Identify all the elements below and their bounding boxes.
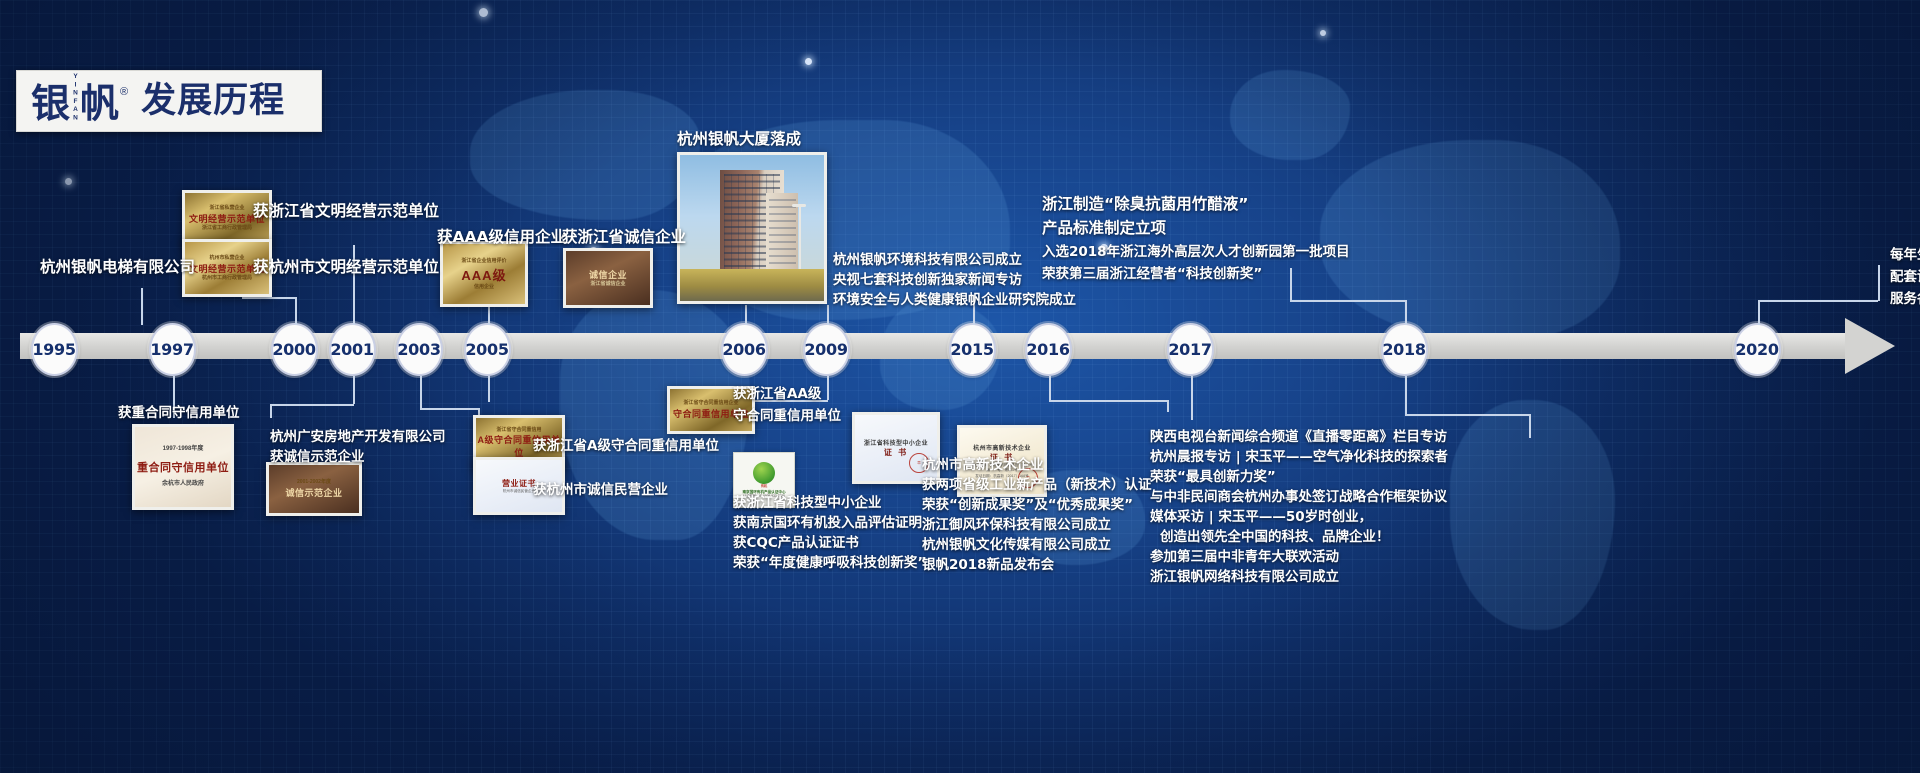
connector-2003-down-h <box>420 408 478 410</box>
eco-badge-logo-text: 有机 <box>761 484 767 488</box>
annotation-2020-line1: 每年生产天然竹萃浓缩液上万吨 <box>1890 246 1920 265</box>
connector-2001-down-drop <box>270 404 272 418</box>
annotation-2016-below-line1: 杭州市高新技术企业 <box>922 456 1044 475</box>
connector-2000-up <box>295 297 297 325</box>
annotation-2016-below-line4: 浙江御风环保科技有限公司成立 <box>922 516 1111 535</box>
connector-2003-down <box>420 376 422 408</box>
annotation-2020-line2: 配套设备超过50万台 <box>1890 268 1920 287</box>
connector-2018-down-drop <box>1529 414 1531 438</box>
annotation-2009-below-line5: 获CQC产品认证证书 <box>733 534 859 553</box>
plaque-1997-line1: 1997-1998年度 <box>163 446 204 454</box>
connector-2001-down <box>353 376 355 404</box>
annotation-2000-below-line1: 杭州广安房地产开发有限公司 <box>270 428 446 447</box>
connector-2016-down <box>1049 376 1051 400</box>
annotation-2018-below-line6: 创造出领先全中国的科技、品牌企业！ <box>1160 528 1390 547</box>
plaque-2000b-title: 诚信示范企业 <box>285 486 342 499</box>
annotation-2016-below-line6: 银帆2018新品发布会 <box>922 556 1054 575</box>
year-node-2018[interactable]: 2018 <box>1381 323 1428 376</box>
plaque-2006-sub: 浙江省诚信企业 <box>590 281 625 287</box>
annotation-2015-line2: 央视七套科技创新独家新闻专访 <box>833 271 1022 290</box>
annotation-2006-top: 获浙江省诚信企业 <box>562 226 686 248</box>
annotation-2009-below-line6: 荣获“年度健康呼吸科技创新奖” <box>733 554 926 573</box>
annotation-2018-top-line4: 荣获第三届浙江经营者“科技创新奖” <box>1042 265 1262 284</box>
connector-2005-down <box>488 376 490 402</box>
year-node-2001[interactable]: 2001 <box>329 323 376 376</box>
cert-2016-header: 浙江省科技型中小企业 <box>864 438 928 447</box>
year-node-2000[interactable]: 2000 <box>271 323 318 376</box>
year-node-2017[interactable]: 2017 <box>1167 323 1214 376</box>
plaque-2006-zhejiang-integrity-enterprise[interactable]: 诚信企业 浙江省诚信企业 <box>563 248 653 308</box>
annotation-1995: 杭州银帆电梯有限公司 <box>40 256 195 278</box>
annotation-2005-top: 获AAA级信用企业 <box>437 226 566 248</box>
title-banner: 银YINFAN帆 ® 发展历程 <box>16 70 322 132</box>
plaque-2000-integrity-demo-enterprise[interactable]: 2001-2002年度 诚信示范企业 <box>266 462 362 516</box>
annotation-2015-line1: 杭州银帆环境科技有限公司成立 <box>833 251 1022 270</box>
annotation-2009-below-line1: 获浙江省AA级 <box>733 385 821 404</box>
plaque-2003b-body: 杭州市诚信民营企业 <box>503 489 535 494</box>
timeline-arrowhead-icon <box>1845 318 1895 374</box>
annotation-2016-below-line2: 获两项省级工业新产品（新技术）认证 <box>922 476 1152 495</box>
connector-2018-down-h <box>1405 414 1529 416</box>
year-node-2006[interactable]: 2006 <box>721 323 768 376</box>
year-node-2009[interactable]: 2009 <box>803 323 850 376</box>
connector-2020-up-riser <box>1878 265 1880 301</box>
connector-2018-up-h <box>1290 300 1406 302</box>
annotation-2015-title: 杭州银帆大厦落成 <box>677 128 801 150</box>
annotation-2018-below-line4: 与中非民间商会杭州办事处签订战略合作框架协议 <box>1150 488 1447 507</box>
connector-2009-down <box>827 376 829 400</box>
annotation-2000-top: 获杭州市文明经营示范单位 <box>253 256 439 278</box>
plaque-1997-contract-credit-unit[interactable]: 1997-1998年度 重合同守信用单位 余杭市人民政府 <box>132 424 234 510</box>
connector-2017-down <box>1191 376 1193 420</box>
cert-2016-title: 证 书 <box>884 447 908 458</box>
connector-2000-up-h <box>242 297 296 299</box>
connector-2006-up <box>745 305 747 325</box>
year-node-2003[interactable]: 2003 <box>396 323 443 376</box>
foreground-trees <box>680 269 824 301</box>
annotation-2018-below-line3: 荣获“最具创新力奖” <box>1150 468 1276 487</box>
year-node-1995[interactable]: 1995 <box>31 323 78 376</box>
page-title: 发展历程 <box>141 84 285 119</box>
year-node-2015[interactable]: 2015 <box>949 323 996 376</box>
plaque-1997-title: 重合同守信用单位 <box>137 459 229 475</box>
photo-2015-yinfan-building[interactable] <box>677 152 827 304</box>
brand-logo-pinyin: YINFAN <box>72 79 79 117</box>
connector-2016-down-drop <box>1167 400 1169 412</box>
brand-logo: 银YINFAN帆 ® <box>31 79 128 124</box>
plaque-2005-sub: 信用企业 <box>474 284 494 290</box>
annotation-2009-below-line3: 获浙江省科技型中小企业 <box>733 494 882 513</box>
connector-2009-up <box>827 305 829 325</box>
registered-trademark-icon: ® <box>120 86 128 98</box>
year-node-2020[interactable]: 2020 <box>1734 323 1781 376</box>
connector-2018-up <box>1405 300 1407 325</box>
plaque-2005-aaa-credit-enterprise[interactable]: 浙江省企业信用评价 AAA级 信用企业 <box>440 241 528 307</box>
annotation-2000-below-line2: 获诚信示范企业 <box>270 448 365 467</box>
annotation-2016-below-line5: 杭州银帆文化传媒有限公司成立 <box>922 536 1111 555</box>
annotation-2018-below-line2: 杭州晨报专访 | 宋玉平——空气净化科技的探索者 <box>1150 448 1448 467</box>
annotation-2018-top-line1: 浙江制造“除臭抗菌用竹醋液” <box>1042 193 1248 215</box>
connector-2016-down-h <box>1049 400 1167 402</box>
connector-2005-up <box>488 305 490 325</box>
organic-leaf-icon <box>753 462 775 484</box>
annotation-2020-line3: 服务各行各业 <box>1890 290 1920 309</box>
annotation-2018-below-line5: 媒体采访 | 宋玉平——50岁时创业， <box>1150 508 1372 527</box>
connector-2001-down-h <box>270 404 354 406</box>
connector-2020-up-h <box>1758 300 1878 302</box>
year-node-1997[interactable]: 1997 <box>149 323 196 376</box>
annotation-2001-top: 获浙江省文明经营示范单位 <box>253 200 439 222</box>
connector-2018-down <box>1405 376 1407 414</box>
year-node-2005[interactable]: 2005 <box>464 323 511 376</box>
year-node-2016[interactable]: 2016 <box>1025 323 1072 376</box>
connector-2020-up <box>1758 300 1760 325</box>
plaque-2000-footer: 杭州市工商行政管理局 <box>202 275 252 281</box>
connector-1995-down <box>141 288 143 325</box>
annotation-2009-below-line4: 获南京国环有机投入品评估证明 <box>733 514 922 533</box>
annotation-2016-below-line3: 荣获“创新成果奖”及“优秀成果奖” <box>922 496 1133 515</box>
plaque-2005-title: AAA级 <box>461 265 506 284</box>
annotation-2003-below-line1: 获浙江省A级守合同重信用单位 <box>533 437 719 456</box>
cert-2017-header: 杭州市高新技术企业 <box>973 443 1031 452</box>
annotation-2009-below-line2: 守合同重信用单位 <box>733 407 841 426</box>
plaque-2001-footer: 浙江省工商行政管理局 <box>202 225 252 231</box>
annotation-2018-below-line1: 陕西电视台新闻综合频道《直播零距离》栏目专访 <box>1150 428 1447 447</box>
plaque-1997-footer: 余杭市人民政府 <box>162 481 204 489</box>
annotation-1997-below: 获重合同守信用单位 <box>118 404 240 423</box>
annotation-2018-below-line7: 参加第三届中非青年大联欢活动 <box>1150 548 1339 567</box>
plaque-2003b-title: 营业证书 <box>502 478 536 489</box>
brand-logo-char-1: 银 <box>31 85 71 124</box>
connector-2018-up-riser <box>1290 268 1292 301</box>
annotation-2018-below-line8: 浙江银帆网络科技有限公司成立 <box>1150 568 1339 587</box>
brand-logo-char-2: 帆 <box>80 85 120 124</box>
annotation-2003-below-line2: 获杭州市诚信民营企业 <box>533 481 668 500</box>
annotation-2015-line3: 环境安全与人类健康银帆企业研究院成立 <box>833 291 1076 310</box>
annotation-2018-top-line3: 入选2018年浙江海外高层次人才创新园第一批项目 <box>1042 243 1350 262</box>
plaque-2006-title: 诚信企业 <box>589 268 627 281</box>
annotation-2018-top-line2: 产品标准制定立项 <box>1042 217 1166 239</box>
